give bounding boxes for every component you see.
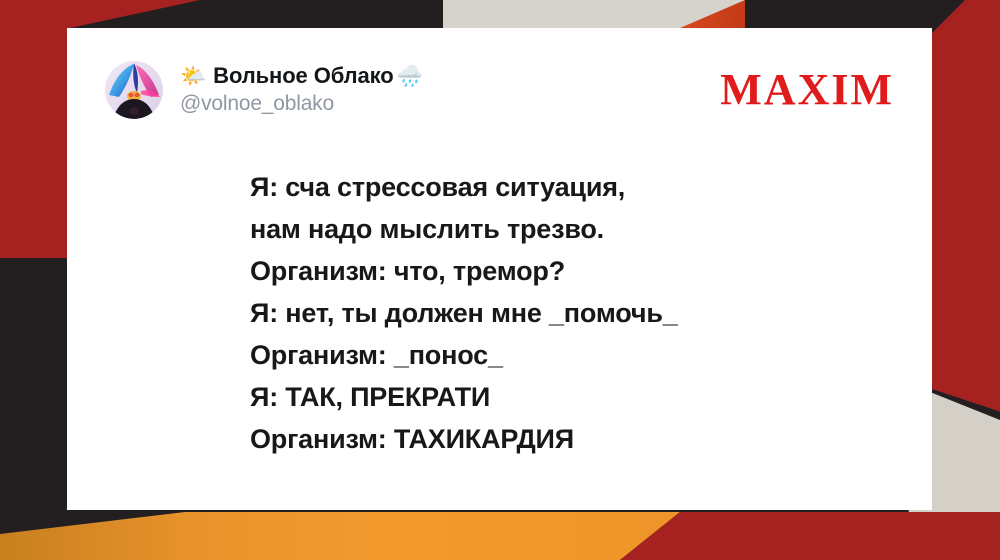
tweet-text: Я: сча стрессовая ситуация, нам надо мыс…	[250, 166, 910, 460]
tweet-header: 🌤️ Вольное Облако 🌧️ @volnoe_oblako	[105, 61, 423, 119]
tweet-line: Я: нет, ты должен мне _помочь_	[250, 292, 910, 334]
tweet-line: Я: ТАК, ПРЕКРАТИ	[250, 376, 910, 418]
tweet-line: Организм: ТАХИКАРДИЯ	[250, 418, 910, 460]
screenshot-root: 🌤️ Вольное Облако 🌧️ @volnoe_oblako MAXI…	[0, 0, 1000, 560]
display-name[interactable]: Вольное Облако	[213, 63, 393, 89]
avatar[interactable]	[105, 61, 163, 119]
tweet-line: Организм: что, тремор?	[250, 250, 910, 292]
cloud-with-rain-icon: 🌧️	[397, 66, 423, 87]
maxim-logo: MAXIM	[720, 68, 894, 112]
display-name-row: 🌤️ Вольное Облако 🌧️	[180, 63, 423, 89]
account-name-block: 🌤️ Вольное Облако 🌧️ @volnoe_oblako	[180, 61, 423, 116]
tweet-line: Организм: _понос_	[250, 334, 910, 376]
bg-shape-red-left-column	[0, 0, 67, 258]
avatar-image	[105, 61, 163, 119]
bg-shape-red-top-wedge	[0, 0, 200, 28]
sun-behind-cloud-icon: 🌤️	[180, 66, 206, 87]
tweet-card: 🌤️ Вольное Облако 🌧️ @volnoe_oblako MAXI…	[67, 28, 932, 510]
tweet-line: Я: сча стрессовая ситуация,	[250, 166, 910, 208]
account-handle[interactable]: @volnoe_oblako	[180, 92, 423, 116]
tweet-line: нам надо мыслить трезво.	[250, 208, 910, 250]
